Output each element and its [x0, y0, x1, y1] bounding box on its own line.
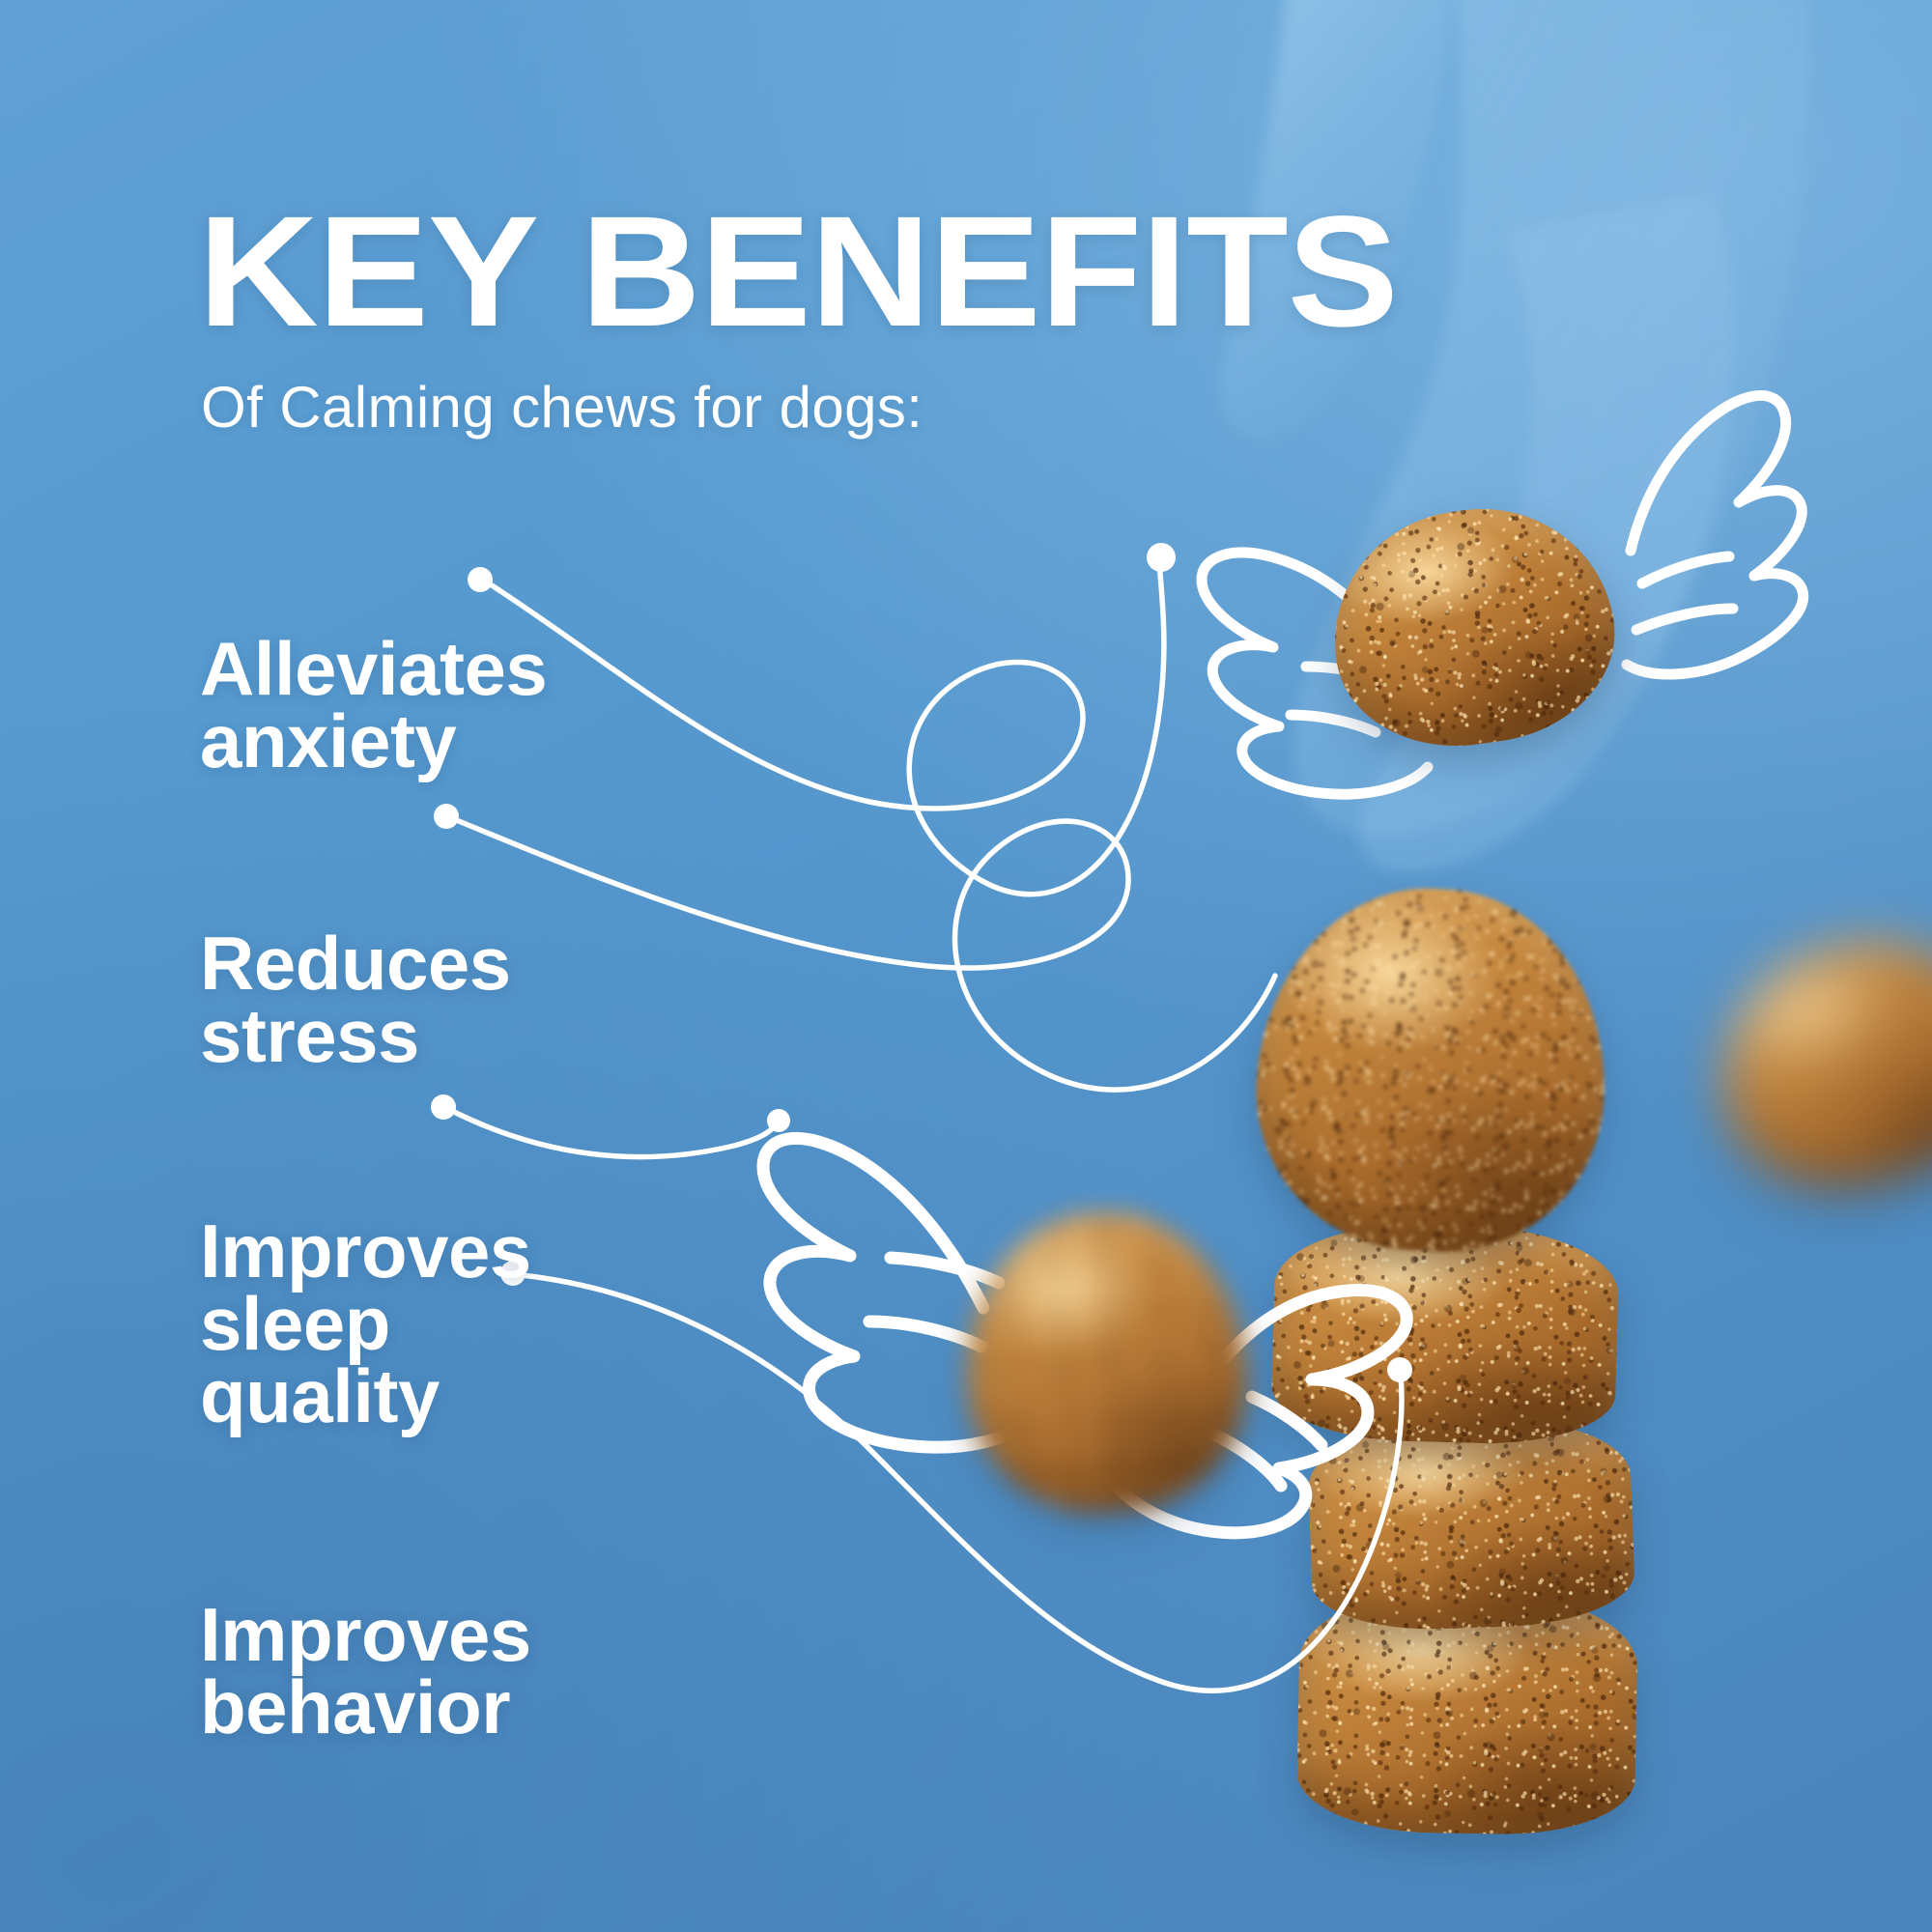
connector-anxiety-path	[486, 560, 1164, 895]
chew-flying-top	[1319, 492, 1629, 762]
benefit-item-improves-behavior: Improves behavior	[200, 1599, 531, 1744]
benefit-line: stress	[200, 1000, 511, 1072]
benefit-item-reduces-stress: Reduces stress	[200, 927, 511, 1072]
chew-body	[1690, 906, 1932, 1218]
benefit-line: quality	[200, 1360, 531, 1433]
benefit-line: behavior	[200, 1671, 531, 1744]
benefit-line: anxiety	[200, 705, 547, 778]
benefit-line: Improves	[200, 1599, 531, 1671]
benefit-item-alleviates-anxiety: Alleviates anxiety	[200, 633, 547, 778]
chew-stack-1	[1245, 877, 1617, 1263]
connector-sleep-dot	[431, 1094, 456, 1120]
connector-chew-mid-dot	[767, 1109, 790, 1132]
page-title: KEY BENEFITS	[198, 199, 1398, 344]
benefit-line: Reduces	[200, 927, 511, 1000]
connector-sleep-path	[452, 1111, 777, 1157]
connector-behavior-path	[522, 1275, 1402, 1690]
benefit-line: Alleviates	[200, 633, 547, 705]
connector-anxiety-dot	[468, 567, 493, 592]
chew-body	[1319, 492, 1629, 762]
chew-body	[1306, 1414, 1635, 1634]
connector-stress-dot	[434, 804, 459, 829]
page-subtitle: Of Calming chews for dogs:	[201, 379, 923, 437]
benefit-line: Improves	[200, 1215, 531, 1288]
chew-stack-3	[1306, 1414, 1635, 1634]
chew-body	[956, 1203, 1257, 1520]
chew-flying-middle	[956, 1203, 1257, 1520]
chew-blurred-right	[1690, 906, 1932, 1218]
wing-top-right	[1627, 395, 1804, 674]
connector-chew-top-dot	[1147, 543, 1176, 572]
key-benefits-graphic: KEY BENEFITS Of Calming chews for dogs: …	[0, 0, 1932, 1932]
chew-body	[1245, 877, 1617, 1263]
benefit-line: sleep	[200, 1288, 531, 1360]
benefit-item-improves-sleep-quality: Improves sleep quality	[200, 1215, 531, 1433]
connector-stress-path	[454, 819, 1275, 1090]
